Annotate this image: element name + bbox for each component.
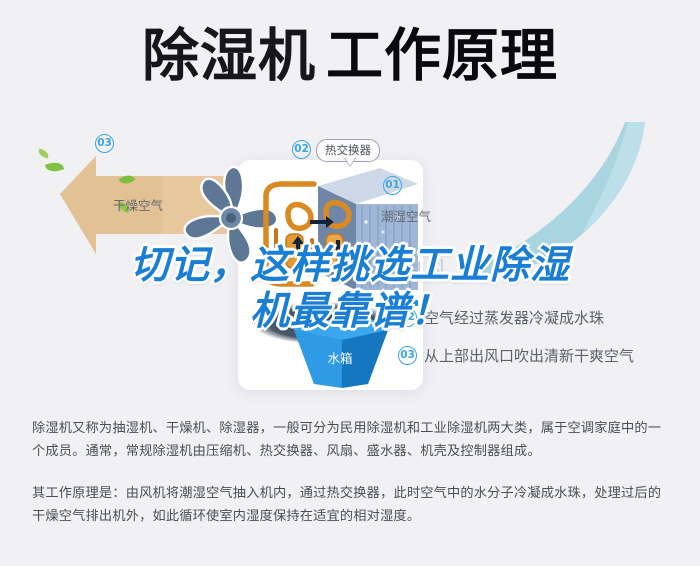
legend-badge-02: 02 [398,308,417,327]
leaf-icon [37,148,50,158]
article-image: 除湿机工作原理 [0,0,700,566]
body-paragraph-1: 除湿机又称为抽湿机、干燥机、除湿器，一般可分为民用除湿机和工业除湿机两大类，属于… [32,418,670,463]
water-tank-label: 水箱 [290,348,390,367]
legend-text-02: 空气经过蒸发器冷凝成水珠 [424,307,604,328]
label-dry-air: 干燥空气 [113,195,163,214]
legend-row: 02 空气经过蒸发器冷凝成水珠 [398,302,688,332]
badge-01-humid-air: 01 [383,176,402,195]
diagram-legend: 02 空气经过蒸发器冷凝成水珠 03 从上部出风口吹出清新干爽空气 [398,302,688,378]
watermark-text: 中风 [402,252,450,281]
label-humid-air: 潮湿空气 [381,206,431,225]
title-part-1: 除湿机 [142,23,316,89]
article-body: 除湿机又称为抽湿机、干燥机、除湿器，一般可分为民用除湿机和工业除湿机两大类，属于… [32,418,670,548]
page-title: 除湿机工作原理 [0,28,700,85]
title-part-2: 工作原理 [326,23,558,89]
badge-03-dry-air: 03 [95,134,114,153]
body-paragraph-2: 其工作原理是：由风机将潮湿空气抽入机内，通过热交换器，此时空气中的水分子冷凝成水… [32,483,670,528]
legend-row: 03 从上部出风口吹出清新干爽空气 [398,340,688,370]
legend-badge-03: 03 [398,346,417,365]
badge-02-heat-exchanger: 02 [292,140,311,159]
water-tank-icon: 水箱 [290,318,390,390]
callout-stem [344,158,356,167]
legend-text-03: 从上部出风口吹出清新干爽空气 [424,345,634,366]
